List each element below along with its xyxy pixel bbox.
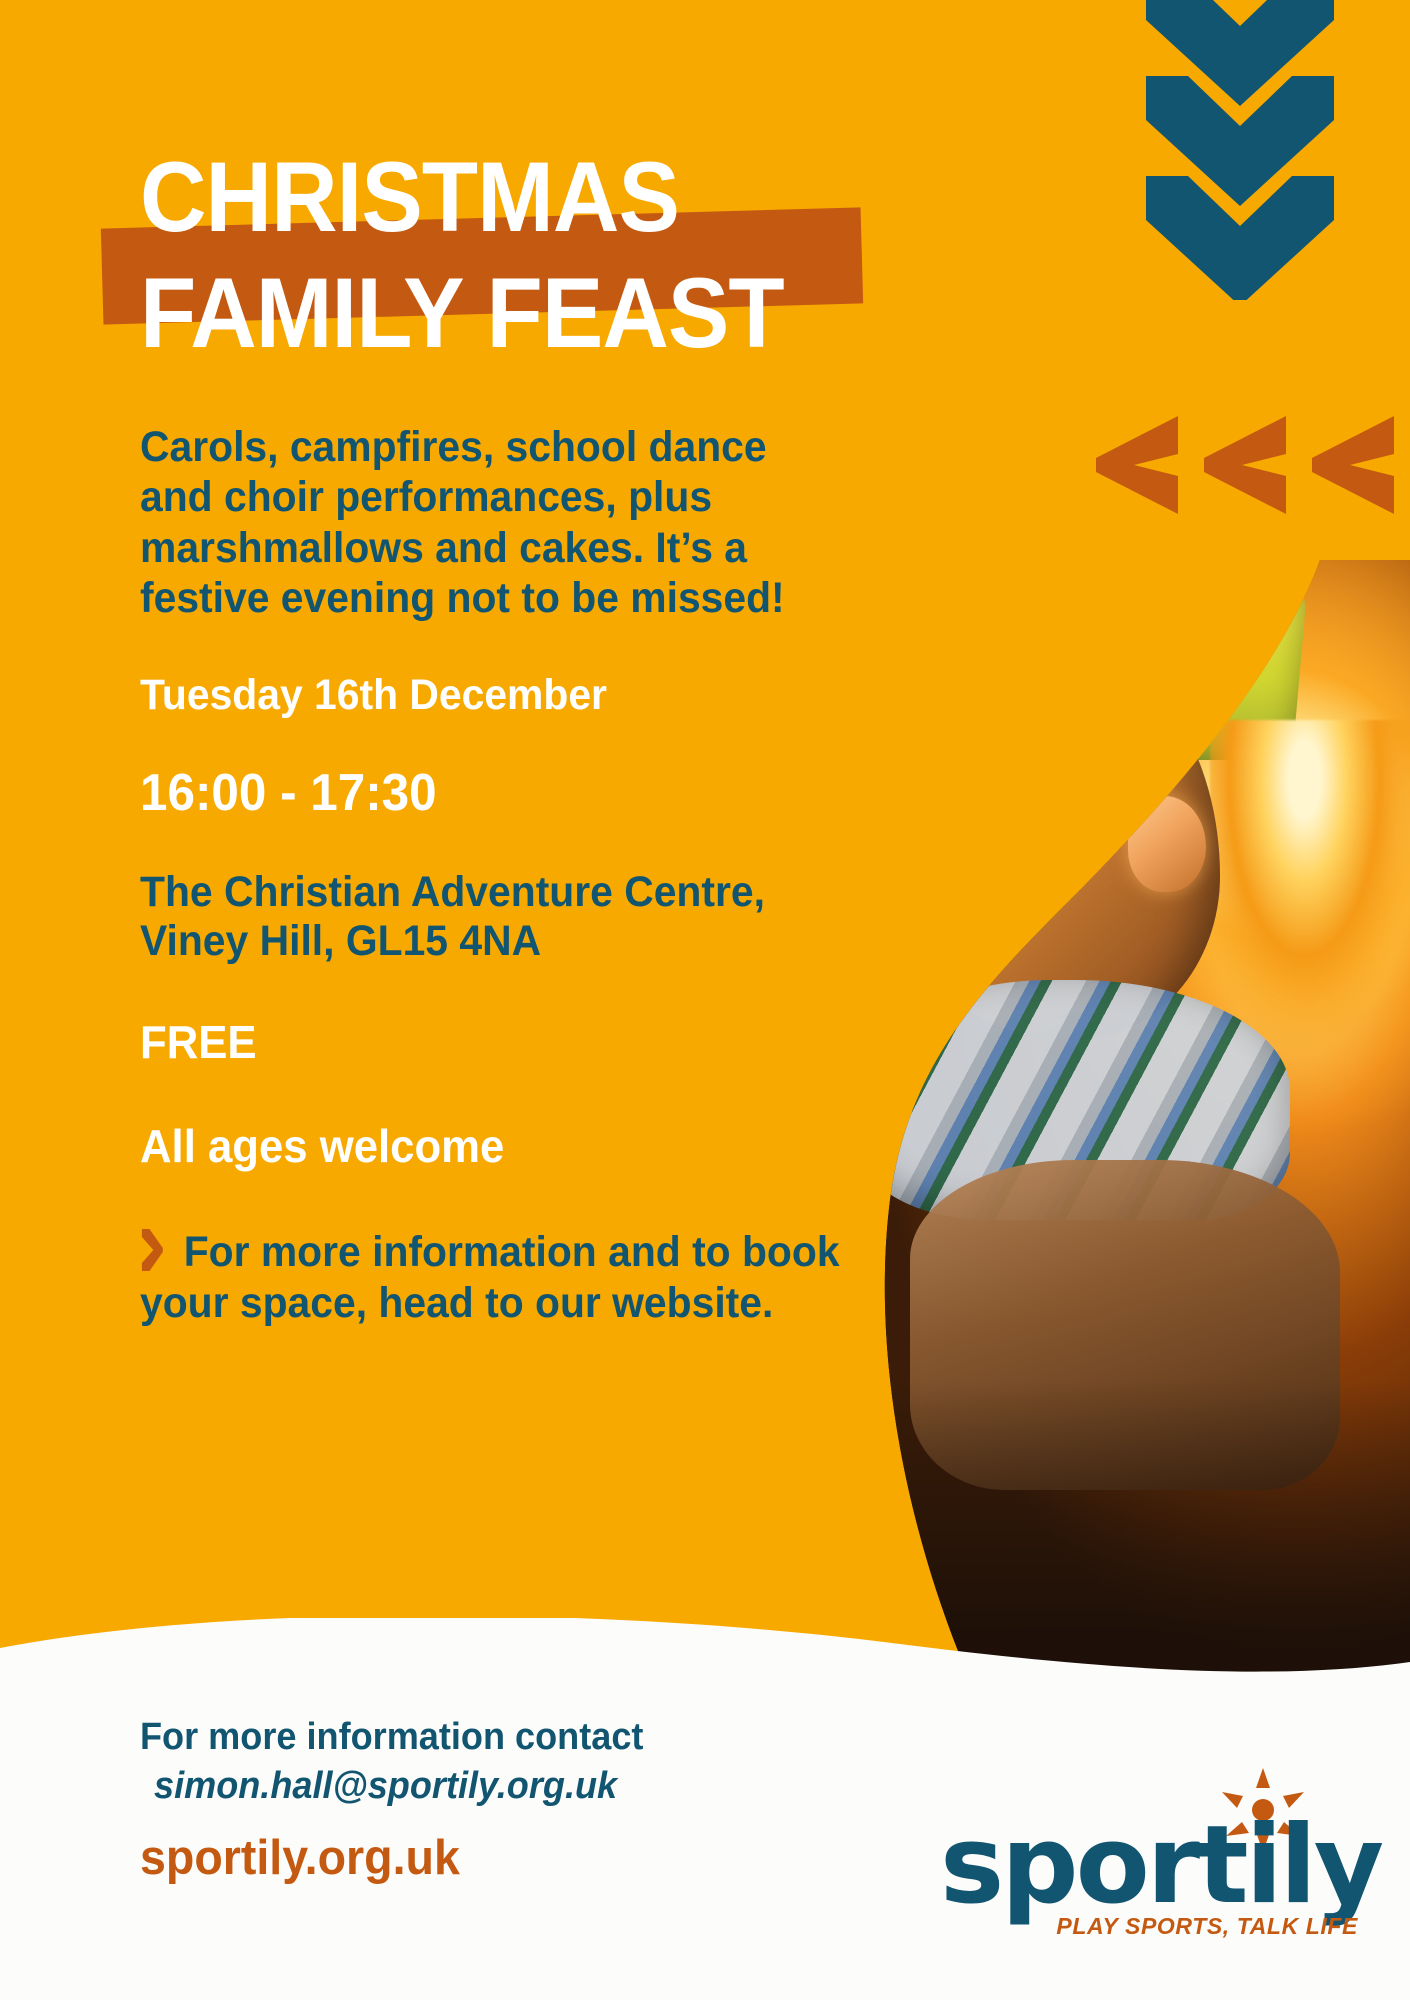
poster-title-line-1: CHRISTMAS: [140, 150, 847, 244]
photo-marshal-head: [1180, 560, 1260, 620]
booking-cta: For more information and to book your sp…: [140, 1224, 843, 1328]
event-venue: The Christian Adventure Centre, Viney Hi…: [140, 868, 767, 966]
chevron-right-icon: [140, 1227, 165, 1273]
chevron-left-decoration-group: [1090, 410, 1410, 520]
poster-description: Carols, campfires, school dance and choi…: [140, 422, 796, 623]
footer-curve-divider: [0, 1618, 1410, 1698]
title-block: CHRISTMAS FAMILY FEAST: [140, 150, 900, 360]
campfire-photo: [850, 560, 1410, 1680]
sportily-tagline: PLAY SPORTS, TALK LIFE: [1056, 1913, 1358, 1940]
event-time: 16:00 - 17:30: [140, 764, 862, 823]
event-date: Tuesday 16th December: [140, 671, 862, 720]
chevron-down-icon-set: [1128, 0, 1368, 300]
poster-root: CHRISTMAS FAMILY FEAST Carols, campfires…: [0, 0, 1410, 2000]
campfire-photo-image: [850, 560, 1410, 1680]
poster-content: CHRISTMAS FAMILY FEAST Carols, campfires…: [0, 0, 900, 1328]
footer-contact-label: For more information contact: [140, 1716, 1309, 1759]
event-price: FREE: [140, 1016, 862, 1068]
poster-title-line-2: FAMILY FEAST: [140, 266, 847, 360]
sportily-wordmark: sportily: [940, 1812, 1381, 1920]
poster-footer: For more information contact simon.hall@…: [0, 1680, 1410, 2000]
booking-cta-text: For more information and to book your sp…: [140, 1228, 840, 1326]
photo-fire: [1210, 720, 1410, 1050]
event-audience: All ages welcome: [140, 1120, 862, 1172]
chevron-left-icon-set: [1090, 410, 1410, 520]
sportily-logo: sportily PLAY SPORTS, TALK LIFE: [940, 1766, 1360, 1946]
chevron-down-decoration-group: [1128, 0, 1368, 290]
photo-child-ear: [1128, 796, 1206, 892]
